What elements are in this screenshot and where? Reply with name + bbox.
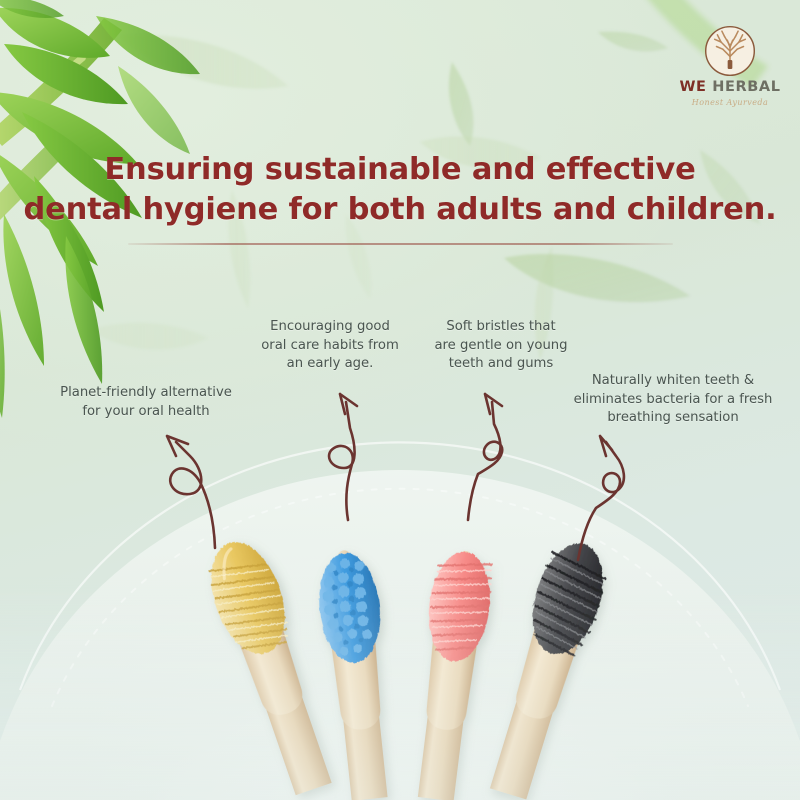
arrow-layer bbox=[0, 0, 800, 800]
poster-canvas: WE HERBAL Honest Ayurveda Ensuring susta… bbox=[0, 0, 800, 800]
curly-arrow-icon-2 bbox=[329, 394, 357, 520]
curly-arrow-icon-4 bbox=[578, 436, 624, 560]
curly-arrow-icon-1 bbox=[167, 436, 215, 548]
curly-arrow-icon-3 bbox=[468, 394, 502, 520]
